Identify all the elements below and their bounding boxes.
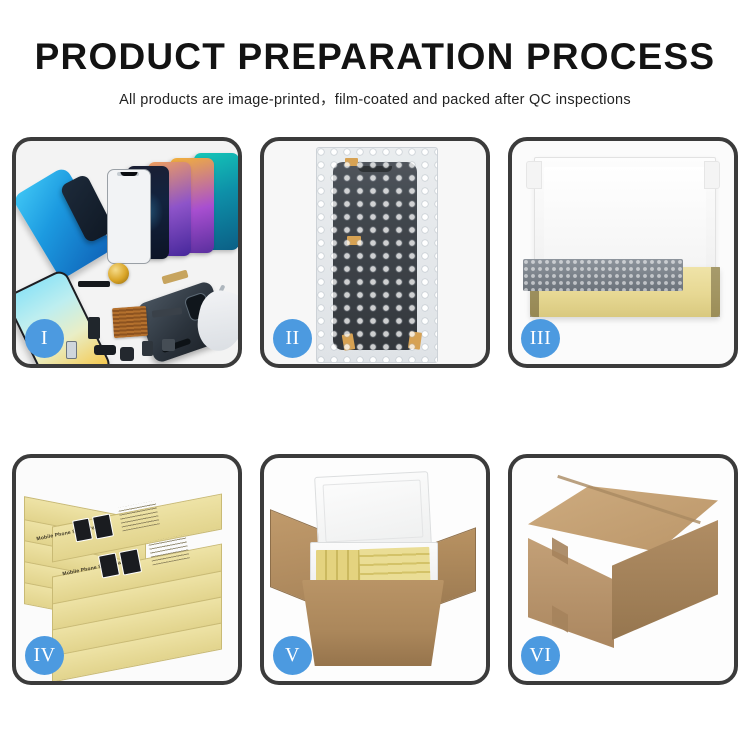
phone-notch-icon <box>121 172 138 176</box>
flex-cable-icon <box>78 281 110 287</box>
step-badge-5: V <box>273 636 312 675</box>
page-header: PRODUCT PREPARATION PROCESS All products… <box>0 0 750 109</box>
step-panel-5: V <box>260 454 490 685</box>
metal-bracket-icon <box>162 339 175 351</box>
phone-fan-group <box>94 153 238 257</box>
page-subtitle: All products are image-printed，film-coat… <box>0 88 750 109</box>
step-panel-4: Mobile Phone Spare Parts Mobile Phone Sp… <box>12 454 242 685</box>
step-panel-2: II <box>260 137 490 368</box>
box-flap-left-icon <box>526 161 542 189</box>
step-badge-4: IV <box>25 636 64 675</box>
carton-left-face-icon <box>528 538 614 648</box>
small-part-icon <box>88 317 100 339</box>
gold-connector-icon <box>161 270 188 285</box>
adhesive-tab-icon <box>347 236 361 245</box>
phone-glass-panel-icon <box>107 169 151 264</box>
screen-assembly-icon <box>333 162 417 350</box>
step-panel-6: VI <box>508 454 738 685</box>
process-steps-grid: I II <box>12 137 738 685</box>
step-panel-1: I <box>12 137 242 368</box>
sim-tray-icon <box>66 341 77 359</box>
adhesive-tab-icon <box>345 158 358 166</box>
product-preparation-infographic: PRODUCT PREPARATION PROCESS All products… <box>0 0 750 750</box>
chip-grid-icon <box>112 306 148 338</box>
box-flap-right-icon <box>704 161 720 189</box>
step-panel-3: III <box>508 137 738 368</box>
step-badge-3: III <box>521 319 560 358</box>
foam-cooler-lid-icon <box>314 471 432 551</box>
connector-part-icon <box>142 341 153 356</box>
speaker-coil-icon <box>108 263 129 284</box>
carton-front-icon <box>302 580 444 666</box>
vibrator-motor-icon <box>120 347 134 361</box>
packed-bubble-items-icon <box>523 259 683 291</box>
bubble-wrap-bag-icon <box>316 147 438 363</box>
step-badge-2: II <box>273 319 312 358</box>
page-title: PRODUCT PREPARATION PROCESS <box>0 38 750 77</box>
camera-module-icon <box>94 345 116 355</box>
adhesive-tab-icon <box>408 331 422 350</box>
step-badge-1: I <box>25 319 64 358</box>
step-badge-6: VI <box>521 636 560 675</box>
